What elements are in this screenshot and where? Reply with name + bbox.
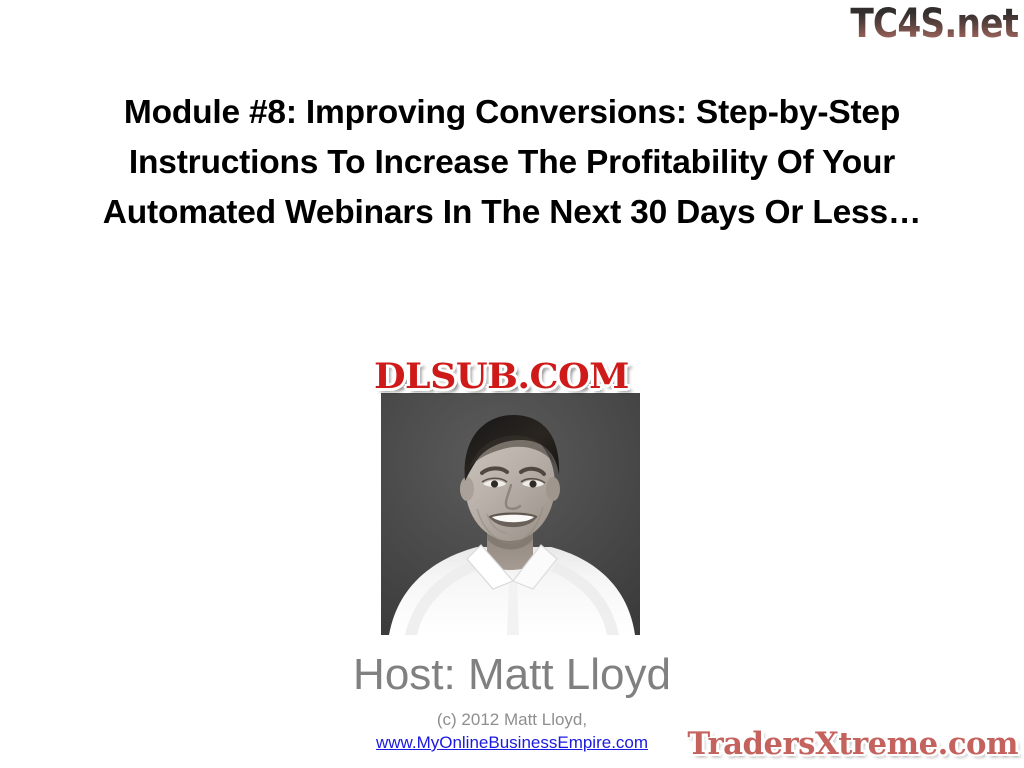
- presenter-photo-image: [381, 393, 640, 635]
- presentation-slide: TC4S.net Module #8: Improving Conversion…: [0, 0, 1024, 768]
- copyright-text: (c) 2012 Matt Lloyd,: [437, 710, 587, 729]
- slide-title-line-3: Automated Webinars In The Next 30 Days O…: [62, 188, 962, 238]
- presenter-photo: [381, 393, 640, 635]
- host-label: Host: Matt Lloyd: [0, 649, 1024, 701]
- slide-title: Module #8: Improving Conversions: Step-b…: [62, 88, 962, 238]
- tradersxtreme-watermark: TradersXtreme.com: [687, 726, 1018, 762]
- dlsub-watermark: DLSUB.COM: [374, 358, 629, 396]
- slide-title-line-2: Instructions To Increase The Profitabili…: [62, 138, 962, 188]
- tc4s-watermark: TC4S.net: [850, 2, 1018, 46]
- slide-title-line-1: Module #8: Improving Conversions: Step-b…: [62, 88, 962, 138]
